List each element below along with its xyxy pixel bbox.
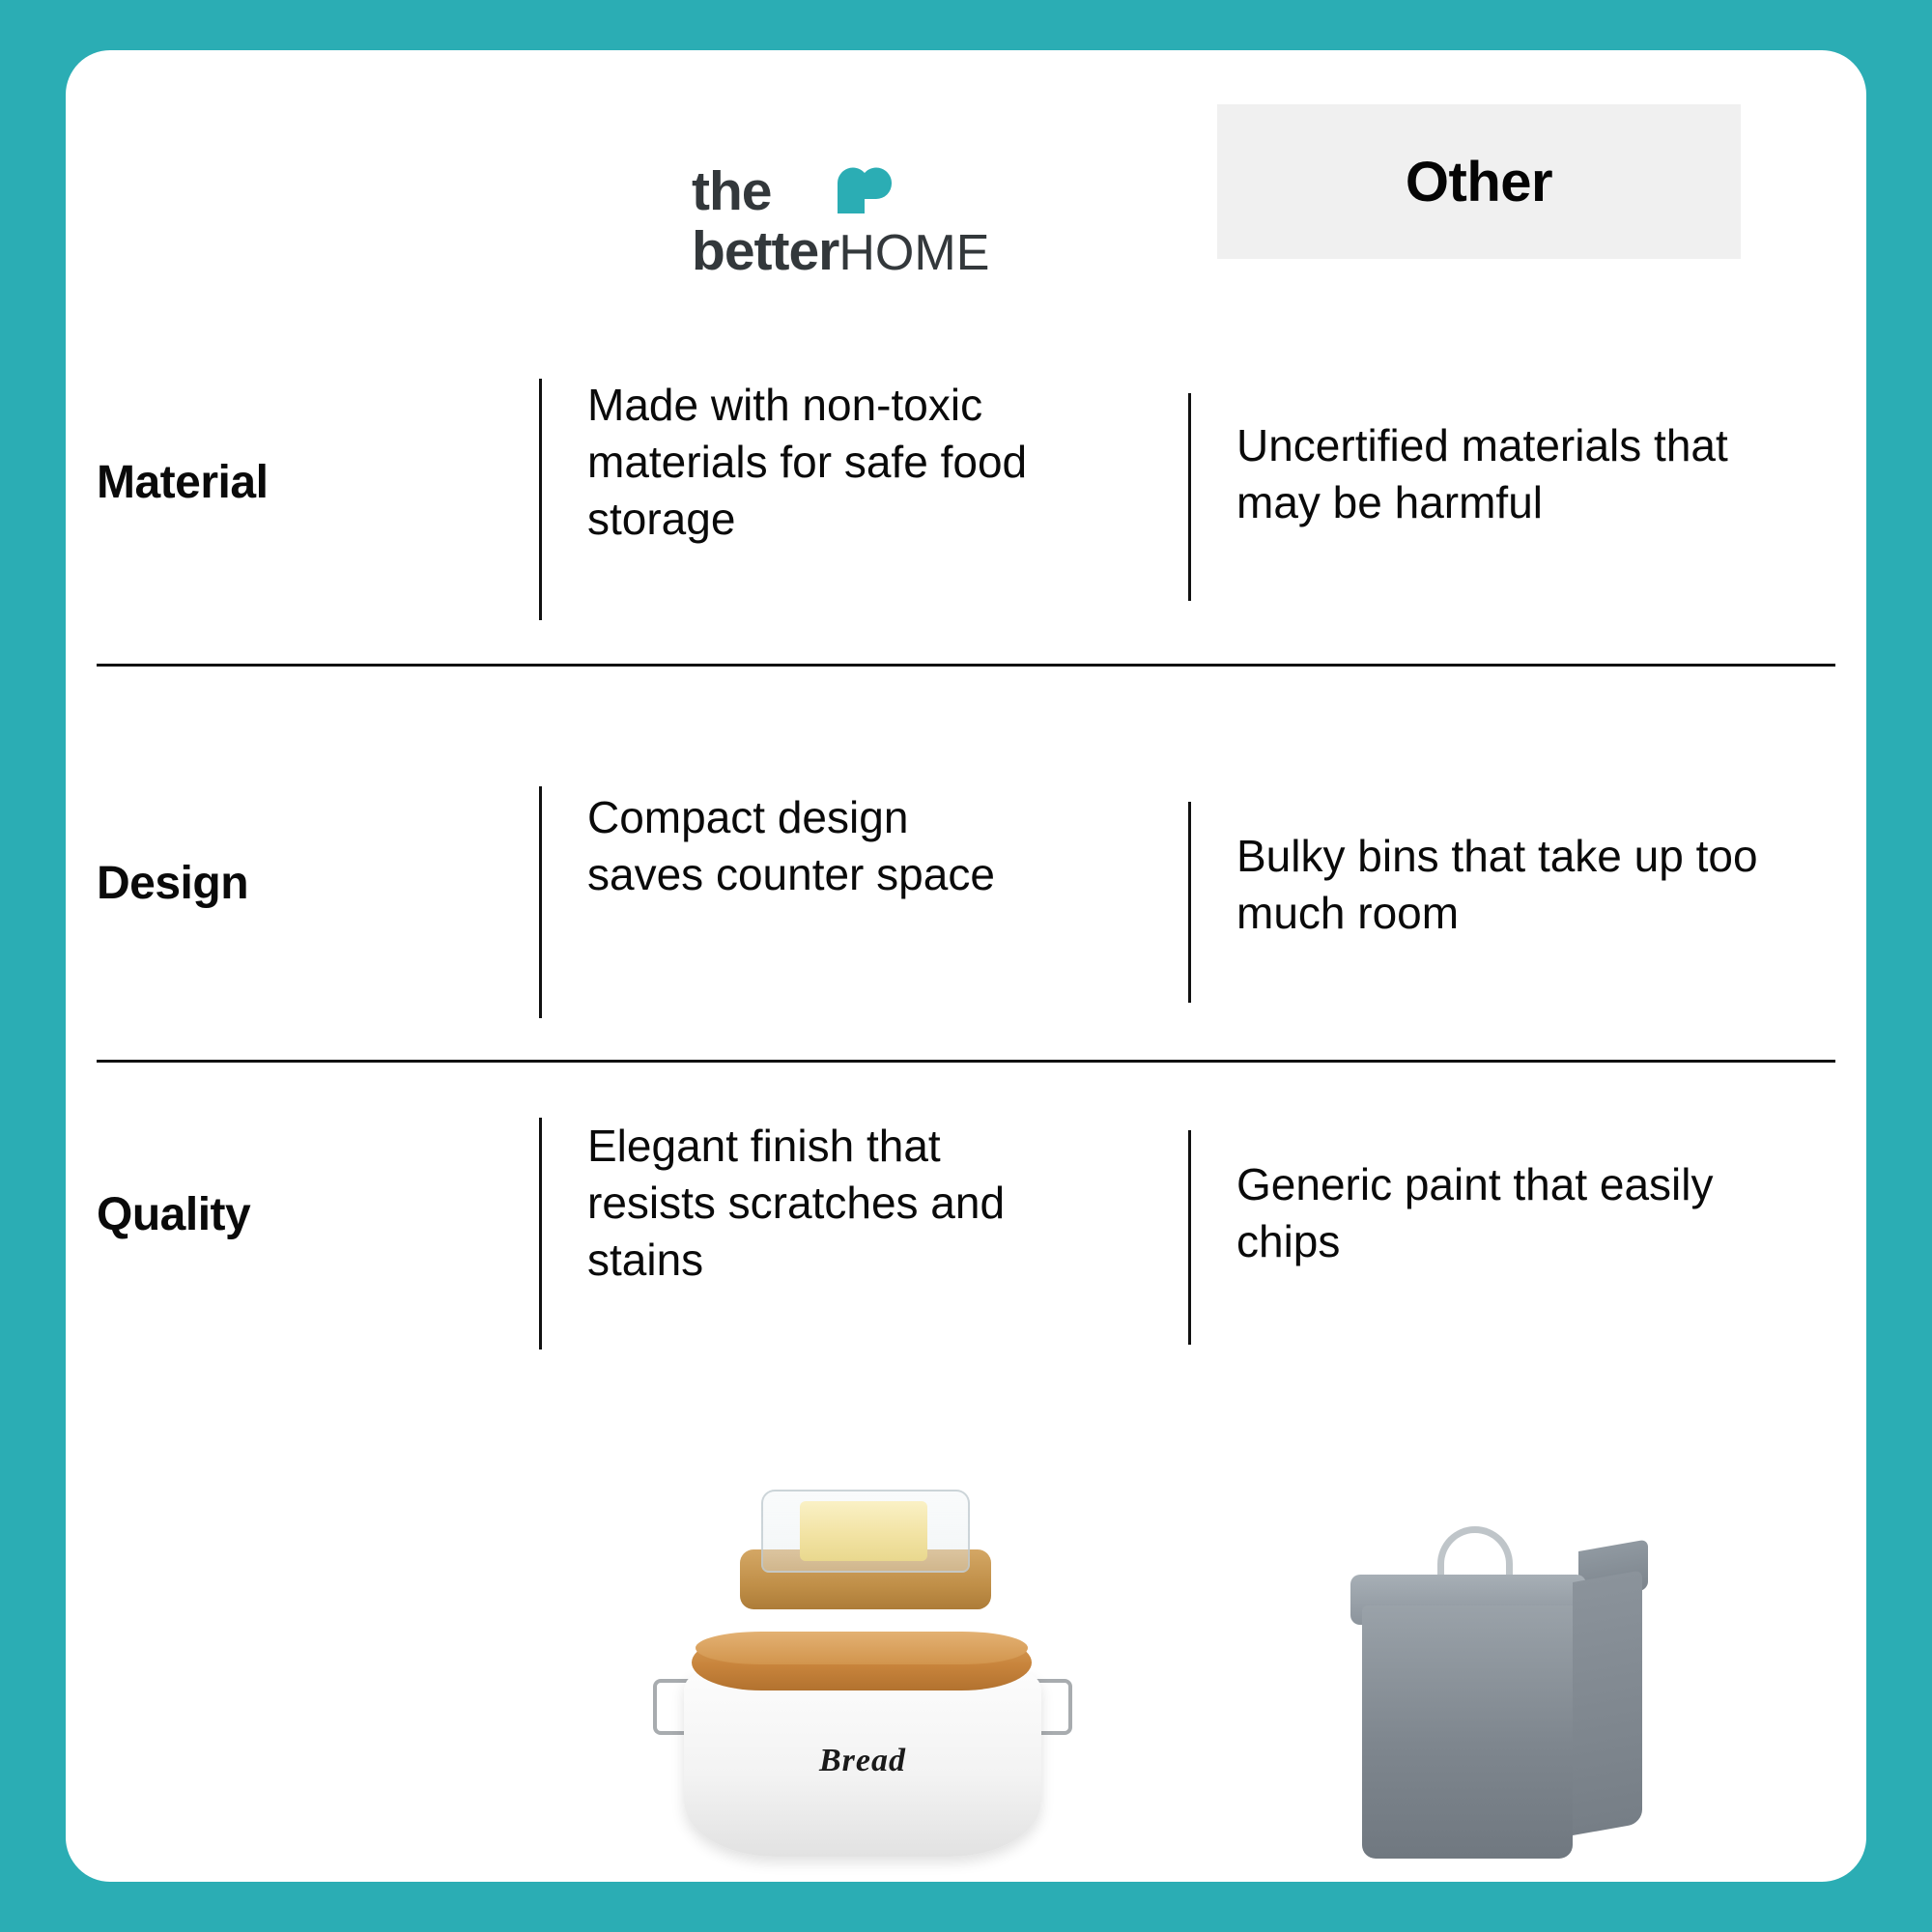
cell-other-quality: Generic paint that easily chips [1236,1156,1777,1270]
brand-logo: the betterHOME [692,164,1097,279]
cell-other-material: Uncertified materials that may be harmfu… [1236,417,1816,531]
brand-line1-wrap: the [692,164,1097,224]
row-divider-vertical-right [1188,393,1191,601]
row-label-material: Material [97,456,268,509]
bread-box-front-label: Bread [645,1743,1080,1779]
row-label-quality: Quality [97,1188,250,1241]
product-images: Bread [66,1432,1866,1882]
grey-bin-side-panel [1573,1570,1642,1835]
row-divider-vertical-right [1188,1130,1191,1345]
other-column-header: Other [1217,104,1741,259]
other-column-label: Other [1406,150,1552,214]
comparison-card: the betterHOME Other Material Made [66,50,1866,1882]
grey-bin-handle [1437,1526,1513,1578]
butter-block [800,1501,927,1561]
card-header: the betterHOME Other [66,50,1866,272]
row-divider-vertical-left [539,1118,542,1350]
row-separator-2 [97,1060,1835,1063]
row-divider-vertical-left [539,786,542,1018]
cell-better-home-design: Compact design saves counter space [587,789,1012,903]
product-bread-box: Bread [645,1480,1080,1882]
grey-bin-front-panel [1362,1605,1573,1859]
cell-better-home-quality: Elegant finish that resists scratches an… [587,1118,1041,1289]
brand-line1-text: the [692,160,772,222]
infographic-page: the betterHOME Other Material Made [0,0,1932,1932]
row-divider-vertical-right [1188,802,1191,1003]
bread-box-bamboo-lid-top [696,1632,1028,1664]
brand-line2-wrap: betterHOME [692,224,1097,279]
heart-icon [835,162,895,214]
cell-other-design: Bulky bins that take up too much room [1236,828,1797,942]
product-grey-bin [1341,1490,1660,1876]
cell-better-home-material: Made with non-toxic materials for safe f… [587,377,1070,548]
row-label-design: Design [97,857,248,910]
row-divider-vertical-left [539,379,542,620]
brand-line2-light: HOME [838,225,989,281]
row-separator-1 [97,664,1835,667]
butter-dish-image [740,1480,991,1625]
brand-line2-bold: better [692,220,838,282]
